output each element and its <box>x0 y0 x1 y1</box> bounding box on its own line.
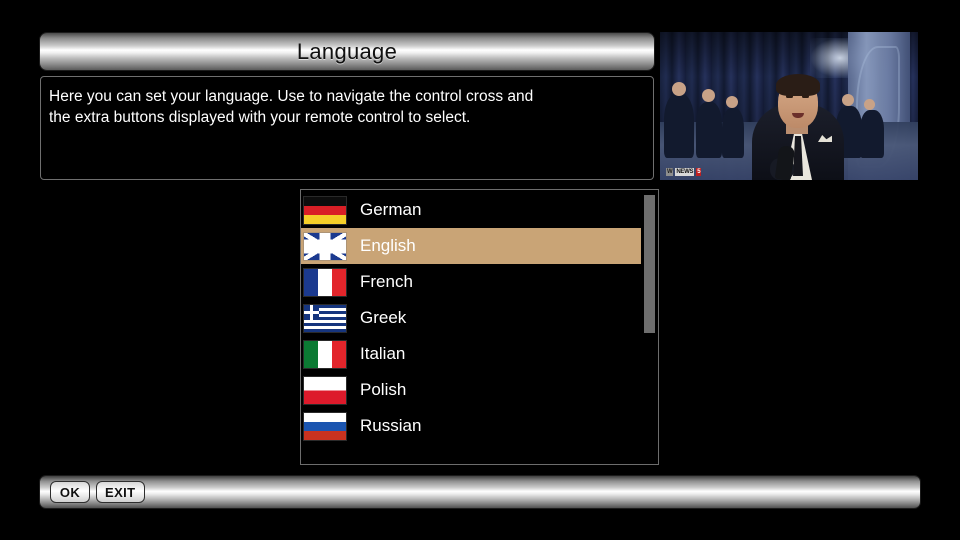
video-crowd-head <box>864 99 875 110</box>
list-item[interactable]: English <box>301 228 641 264</box>
title-bar: Language <box>40 33 654 70</box>
list-item[interactable]: Italian <box>301 336 641 372</box>
channel-logo-bug: W NEWS 5 <box>666 168 701 176</box>
ok-button[interactable]: OK <box>50 481 90 503</box>
video-reporter-hair <box>776 74 820 96</box>
video-crowd-head <box>702 89 715 102</box>
channel-bug-name: NEWS <box>675 168 694 176</box>
channel-bug-number: 5 <box>696 168 701 176</box>
video-preview[interactable]: W NEWS 5 <box>660 32 918 180</box>
video-crowd-head <box>672 82 686 96</box>
list-item-label: Polish <box>360 380 406 400</box>
help-text: Here you can set your language. Use to n… <box>49 86 643 128</box>
list-item-label: German <box>360 200 421 220</box>
list-item-label: French <box>360 272 413 292</box>
list-item-label: Greek <box>360 308 406 328</box>
video-reporter-eye <box>786 95 793 98</box>
video-crowd-figure <box>722 108 744 158</box>
page-title: Language <box>297 39 397 65</box>
video-crowd-figure <box>664 94 694 158</box>
flag-italy-icon <box>304 341 346 368</box>
list-item-label: English <box>360 236 416 256</box>
list-item[interactable]: Russian <box>301 408 641 444</box>
video-crowd-head <box>842 94 854 106</box>
flag-russia-icon <box>304 413 346 440</box>
footer-bar: OK EXIT <box>40 476 920 508</box>
scrollbar-thumb[interactable] <box>644 195 655 333</box>
list-item-label: Russian <box>360 416 421 436</box>
scrollbar-track[interactable] <box>644 193 655 461</box>
language-list-panel: German English French Greek Italian Poli <box>300 189 659 465</box>
channel-bug-prefix: W <box>666 168 673 176</box>
video-crowd-figure <box>860 110 884 158</box>
exit-button[interactable]: EXIT <box>96 481 145 503</box>
video-crowd-figure <box>696 102 722 158</box>
flag-greece-icon <box>304 305 346 332</box>
list-item[interactable]: Polish <box>301 372 641 408</box>
list-item[interactable]: German <box>301 192 641 228</box>
video-reporter-eye <box>802 95 809 98</box>
help-box: Here you can set your language. Use to n… <box>40 76 654 180</box>
flag-germany-icon <box>304 197 346 224</box>
flag-france-icon <box>304 269 346 296</box>
flag-united-kingdom-icon <box>304 233 346 260</box>
language-list: German English French Greek Italian Poli <box>301 192 641 444</box>
video-crowd-head <box>726 96 738 108</box>
list-item[interactable]: French <box>301 264 641 300</box>
flag-poland-icon <box>304 377 346 404</box>
list-item-label: Italian <box>360 344 405 364</box>
tv-settings-screen: Language Here you can set your language.… <box>0 0 960 540</box>
list-item[interactable]: Greek <box>301 300 641 336</box>
